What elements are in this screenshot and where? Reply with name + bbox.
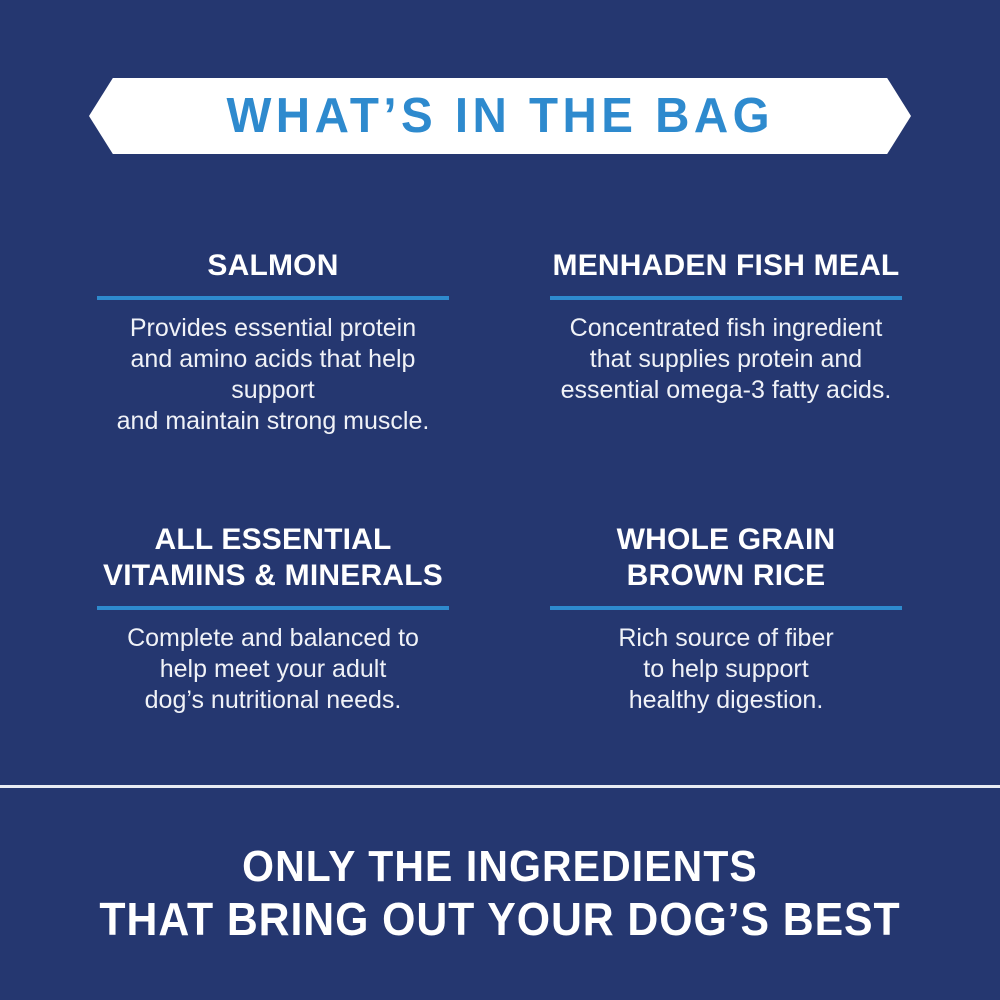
feature-description: Provides essential protein and amino aci… [97, 313, 449, 437]
footer-tagline: ONLY THE INGREDIENTS THAT BRING OUT YOUR… [0, 840, 1000, 946]
feature-description: Complete and balanced to help meet your … [97, 623, 449, 716]
footer-tagline-line-2: THAT BRING OUT YOUR DOG’S BEST [35, 893, 965, 946]
feature-grid: SALMON Provides essential protein and am… [0, 248, 1000, 716]
feature-title: ALL ESSENTIAL VITAMINS & MINERALS [97, 522, 449, 594]
feature-description: Concentrated fish ingredient that suppli… [550, 313, 902, 406]
feature-divider [97, 296, 449, 300]
footer-divider [0, 785, 1000, 788]
feature-card-menhaden-fish-meal: MENHADEN FISH MEAL Concentrated fish ing… [500, 248, 1000, 437]
feature-divider [550, 606, 902, 610]
feature-description: Rich source of fiber to help support hea… [550, 623, 902, 716]
feature-title: SALMON [97, 248, 449, 284]
feature-card-salmon: SALMON Provides essential protein and am… [0, 248, 500, 437]
banner-ribbon: WHAT’S IN THE BAG [89, 78, 911, 154]
feature-card-whole-grain-brown-rice: WHOLE GRAIN BROWN RICE Rich source of fi… [500, 522, 1000, 716]
feature-title: MENHADEN FISH MEAL [550, 248, 902, 284]
feature-row-2: ALL ESSENTIAL VITAMINS & MINERALS Comple… [0, 522, 1000, 716]
feature-card-vitamins-minerals: ALL ESSENTIAL VITAMINS & MINERALS Comple… [0, 522, 500, 716]
feature-title: WHOLE GRAIN BROWN RICE [550, 522, 902, 594]
feature-row-1: SALMON Provides essential protein and am… [0, 248, 1000, 437]
footer-tagline-line-1: ONLY THE INGREDIENTS [35, 840, 965, 893]
page-title: WHAT’S IN THE BAG [226, 92, 774, 141]
feature-divider [550, 296, 902, 300]
banner-container: WHAT’S IN THE BAG [0, 78, 1000, 154]
feature-divider [97, 606, 449, 610]
